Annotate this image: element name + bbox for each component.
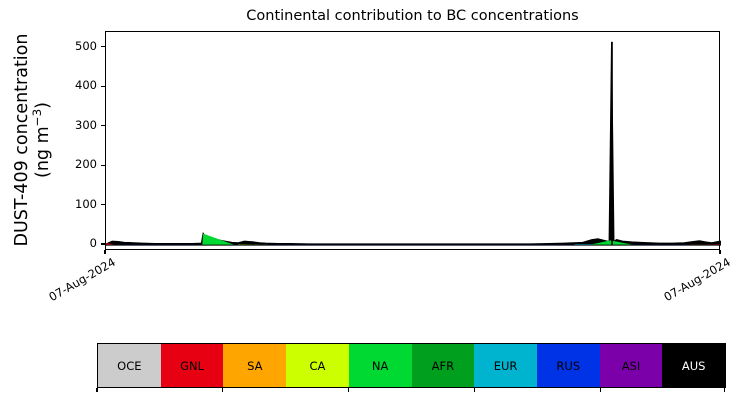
y-tick-label: 500: [64, 39, 97, 53]
chart-title: Continental contribution to BC concentra…: [105, 7, 720, 25]
legend-colorbar: OCEGNLSACANAAFREURRUSASIAUS: [97, 343, 726, 388]
legend-item-oce[interactable]: OCE: [98, 344, 161, 387]
figure-canvas: Continental contribution to BC concentra…: [0, 0, 730, 402]
y-tick-label: 200: [64, 157, 97, 171]
legend-item-label: GNL: [180, 359, 204, 373]
legend-item-label: AFR: [432, 359, 454, 373]
legend-tick-mark: [600, 388, 601, 392]
legend-item-aus[interactable]: AUS: [662, 344, 725, 387]
x-tick-mark: [719, 250, 720, 254]
legend-tick-mark: [348, 388, 349, 392]
y-axis-label-units-pre: (ng m: [33, 126, 53, 178]
series-aus-spike: [611, 42, 613, 245]
legend-item-label: ASI: [622, 359, 641, 373]
series-na-peak: [202, 234, 235, 245]
y-axis-label-units-post: ): [33, 102, 53, 109]
stacked-area-series: [106, 32, 721, 251]
legend-item-ca[interactable]: CA: [286, 344, 349, 387]
x-tick-mark: [104, 250, 105, 254]
legend-item-label: AUS: [682, 359, 706, 373]
x-tick-label: 07-Aug-2024: [46, 257, 114, 304]
y-axis-label-main: DUST-409 concentration: [12, 34, 32, 247]
legend-tick-mark: [96, 388, 97, 392]
legend-item-afr[interactable]: AFR: [412, 344, 475, 387]
y-tick-label: 0: [64, 236, 97, 250]
legend-tick-mark: [222, 388, 223, 392]
legend-item-label: SA: [247, 359, 262, 373]
legend-item-na[interactable]: NA: [349, 344, 412, 387]
legend-item-label: NA: [372, 359, 388, 373]
legend-item-sa[interactable]: SA: [223, 344, 286, 387]
x-tick-label: 07-Aug-2024: [661, 257, 729, 304]
legend-item-label: RUS: [556, 359, 580, 373]
y-tick-label: 300: [64, 118, 97, 132]
legend-item-label: CA: [310, 359, 326, 373]
y-tick-label: 400: [64, 78, 97, 92]
legend-item-label: EUR: [494, 359, 518, 373]
series-aus-area: [106, 42, 721, 245]
y-axis-label-units-exponent: −3: [30, 109, 44, 127]
legend-item-rus[interactable]: RUS: [537, 344, 600, 387]
plot-area: [105, 31, 720, 250]
legend-item-label: OCE: [117, 359, 141, 373]
legend-item-eur[interactable]: EUR: [474, 344, 537, 387]
y-tick-label: 100: [64, 197, 97, 211]
legend-tick-mark: [724, 388, 725, 392]
legend-tick-mark: [474, 388, 475, 392]
legend-item-gnl[interactable]: GNL: [161, 344, 224, 387]
legend-item-asi[interactable]: ASI: [600, 344, 663, 387]
